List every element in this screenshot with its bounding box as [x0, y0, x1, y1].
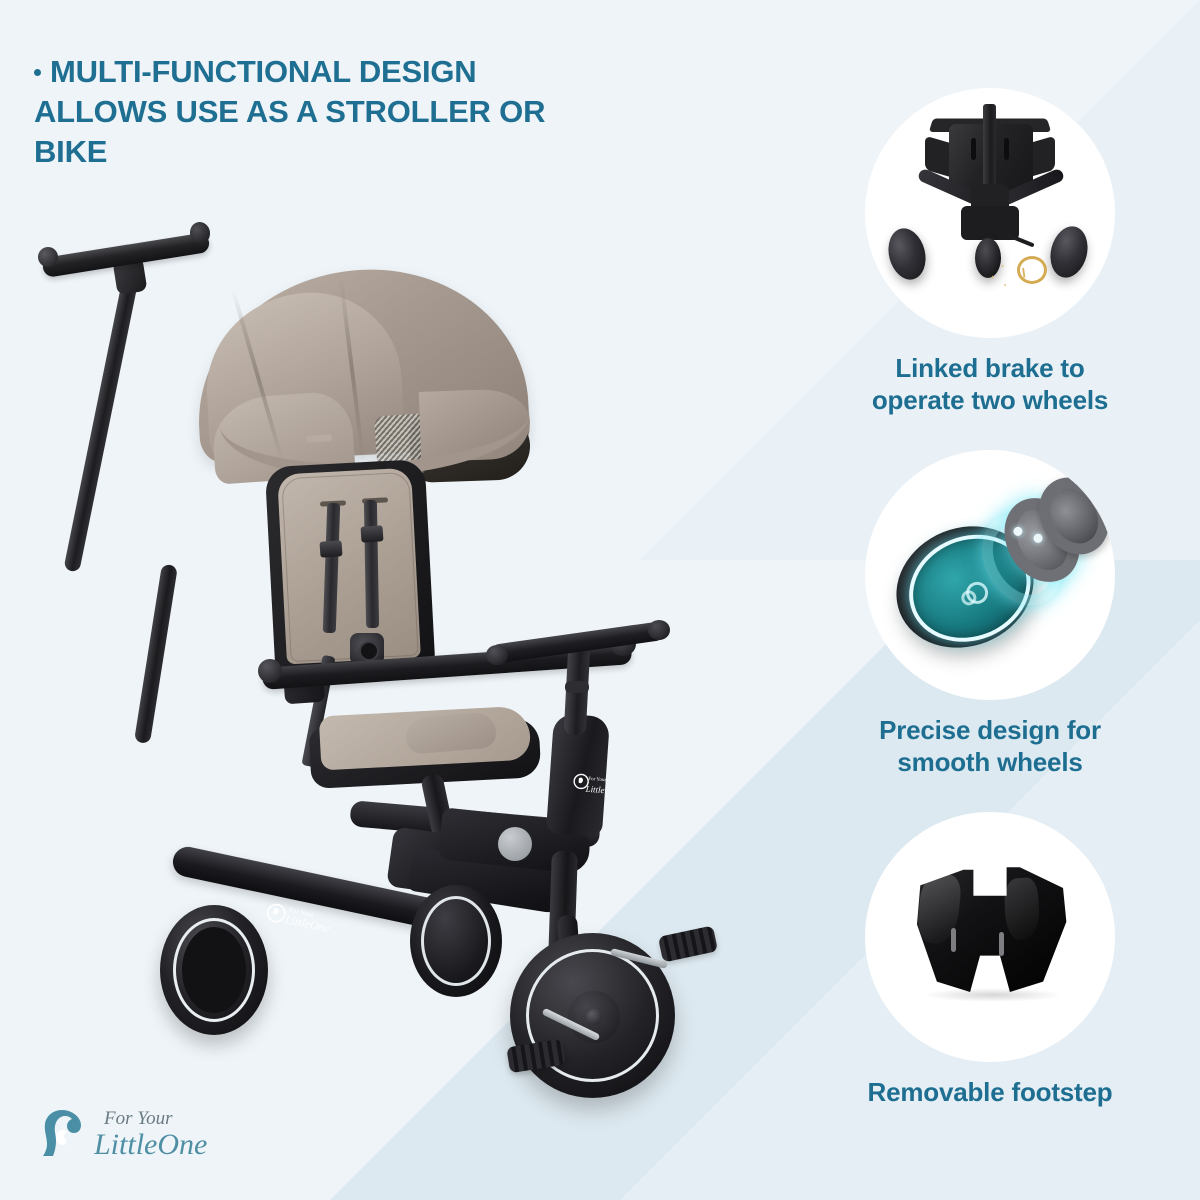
infographic-canvas: MULTI-FUNCTIONAL DESIGN ALLOWS USE AS A …	[0, 0, 1200, 1200]
feature-brake-caption: Linked brake to operate two wheels	[790, 352, 1190, 416]
feature-footstep-image	[865, 812, 1115, 1062]
frame-pivot-disc	[498, 827, 532, 861]
bearing-ball-1	[1012, 525, 1024, 537]
push-handle-stem	[63, 275, 138, 572]
feature-wheels-caption: Precise design for smooth wheels	[790, 714, 1190, 778]
feature-footstep: Removable footstep	[790, 812, 1190, 1108]
footstep-slot-left	[951, 928, 956, 952]
rear-wheel-near	[160, 905, 268, 1035]
mother-and-baby-icon	[32, 1104, 90, 1162]
harness-strap-right	[364, 500, 379, 628]
page-title-text: MULTI-FUNCTIONAL DESIGN ALLOWS USE AS A …	[34, 54, 545, 169]
feature-brake: Linked brake to operate two wheels	[790, 88, 1190, 416]
brake-linkage-rod	[1005, 233, 1034, 248]
page-title: MULTI-FUNCTIONAL DESIGN ALLOWS USE AS A …	[34, 52, 594, 172]
chassis-centre-post	[983, 104, 996, 196]
push-handle-stem-lower	[134, 564, 178, 744]
svg-text:For Your: For Your	[588, 777, 606, 783]
chassis-leg-centre	[865, 88, 878, 142]
feature-footstep-caption: Removable footstep	[790, 1076, 1190, 1108]
bullet-icon	[34, 69, 41, 76]
svg-text:LittleOne: LittleOne	[94, 1128, 207, 1161]
front-wheel-axle-cap	[586, 1009, 602, 1025]
wheel-axle-icon	[963, 579, 992, 608]
footstep-slot-right	[999, 932, 1004, 956]
safety-bar-end-left	[258, 659, 282, 683]
feature-wheels: Precise design for smooth wheels	[790, 450, 1190, 778]
footstep-shadow	[923, 988, 1063, 1002]
feature-wheels-caption-line-2: smooth wheels	[790, 746, 1190, 778]
svg-text:For Your: For Your	[103, 1108, 173, 1129]
feature-footstep-caption-line-1: Removable footstep	[790, 1076, 1190, 1108]
rear-wheel-far	[410, 885, 502, 997]
feature-brake-caption-line-1: Linked brake to	[790, 352, 1190, 384]
handlebar-collar	[565, 681, 589, 693]
feature-wheels-caption-line-1: Precise design for	[790, 714, 1190, 746]
handlebar-grip-right	[648, 620, 670, 640]
brand-wordmark: For Your LittleOne	[94, 1102, 264, 1164]
brand-logo: For Your LittleOne	[32, 1100, 262, 1170]
chassis-wheel-right	[1045, 222, 1093, 281]
seat-stitching	[281, 472, 418, 662]
feature-wheels-image	[865, 450, 1115, 700]
feature-brake-caption-line-2: operate two wheels	[790, 384, 1190, 416]
chassis-wheel-left	[883, 224, 931, 283]
feature-brake-image	[865, 88, 1115, 338]
svg-text:LittleOne: LittleOne	[584, 784, 607, 796]
product-image-stroller-trike: For Your LittleOne For Your LittleOne	[20, 215, 760, 1115]
pedal-right	[658, 925, 718, 962]
harness-adjuster-left	[319, 540, 342, 557]
head-tube-brand-logo: For Your LittleOne	[571, 770, 607, 798]
bearing-ball-2	[1032, 532, 1044, 544]
harness-adjuster-right	[360, 525, 383, 542]
handlebar-grip-left	[486, 645, 508, 665]
